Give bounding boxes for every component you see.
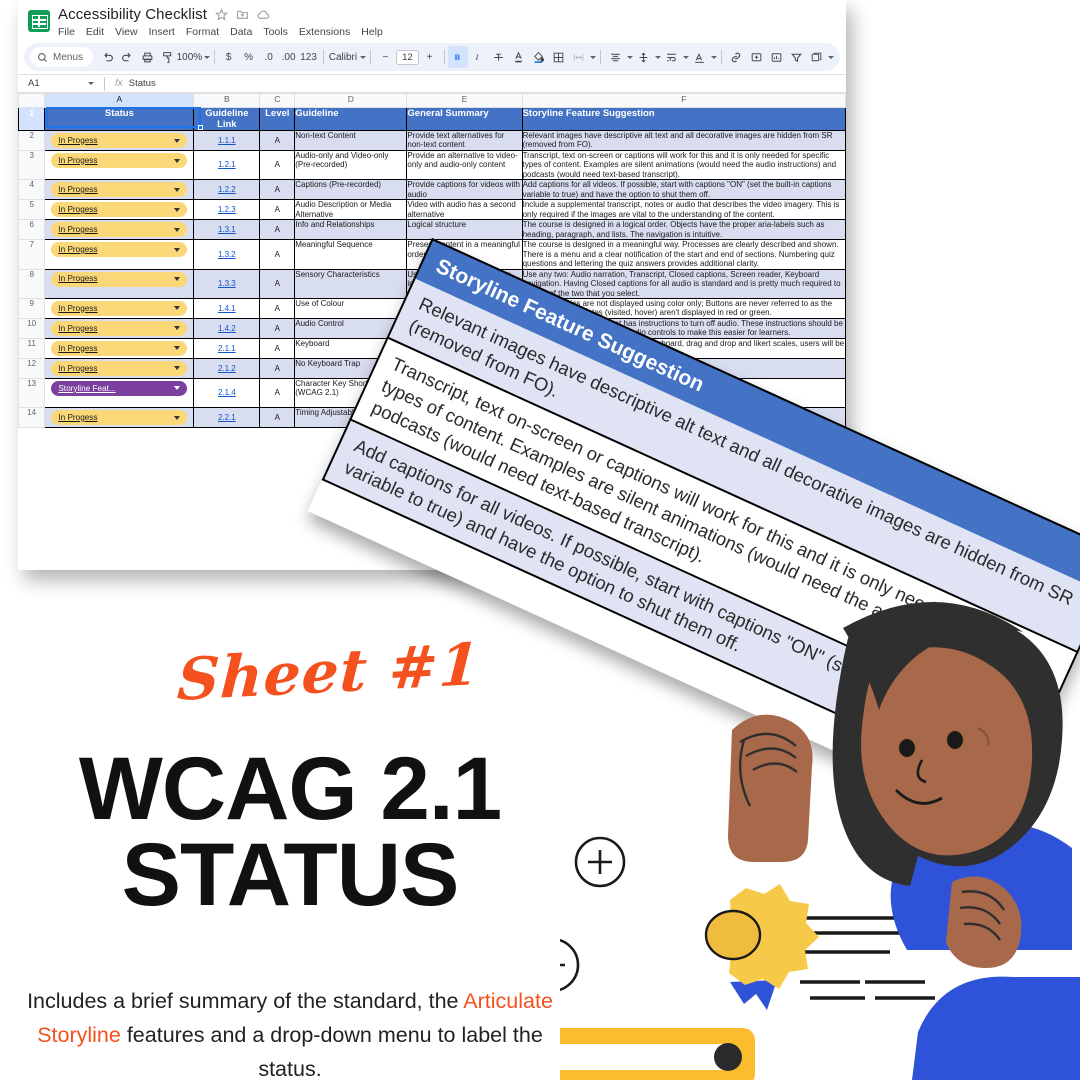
document-title[interactable]: Accessibility Checklist xyxy=(58,6,207,23)
guideline-link-cell[interactable]: 1.4.1 xyxy=(194,298,260,318)
divider xyxy=(721,50,722,64)
status-badge[interactable]: In Progess xyxy=(51,301,187,316)
person-eye-left xyxy=(899,739,915,757)
chevron-down-icon[interactable] xyxy=(174,306,180,310)
font-chevron-down-icon[interactable] xyxy=(360,56,366,59)
formula-input[interactable]: Status xyxy=(129,78,156,89)
increase-decimal-icon[interactable]: .00 xyxy=(279,46,299,68)
guideline-link-cell[interactable]: 2.1.2 xyxy=(194,358,260,378)
level-cell: A xyxy=(260,318,295,338)
move-to-folder-icon[interactable] xyxy=(236,8,249,21)
chevron-down-icon[interactable] xyxy=(174,326,180,330)
print-icon[interactable] xyxy=(137,46,157,68)
strikethrough-icon[interactable] xyxy=(488,46,508,68)
status-cell[interactable]: In Progess xyxy=(45,358,194,378)
undo-icon[interactable] xyxy=(97,46,117,68)
redo-icon[interactable] xyxy=(117,46,137,68)
storyline-cell: Include a supplemental transcript, notes… xyxy=(522,200,845,220)
chevron-down-icon[interactable] xyxy=(174,228,180,232)
header-storyline-feature-suggestion: Storyline Feature Suggestion xyxy=(522,108,845,131)
level-cell: A xyxy=(260,378,295,407)
level-cell: A xyxy=(260,298,295,318)
guideline-link[interactable]: 1.2.1 xyxy=(218,160,236,169)
guideline-link-cell[interactable]: 1.3.3 xyxy=(194,269,260,298)
filter-icon[interactable] xyxy=(786,46,806,68)
row-header[interactable]: 7 xyxy=(19,240,45,269)
row-header[interactable]: 14 xyxy=(19,408,45,428)
zoom-chevron-down-icon[interactable] xyxy=(204,56,210,59)
functions-icon[interactable] xyxy=(806,46,826,68)
column-header-b[interactable]: B xyxy=(194,94,260,108)
text-color-icon[interactable] xyxy=(508,46,528,68)
formula-bar: A1 fx Status xyxy=(18,74,846,93)
storyline-cell: Use any two: Audio narration, Transcript… xyxy=(522,269,845,298)
status-badge[interactable]: In Progess xyxy=(51,222,187,237)
status-badge[interactable]: In Progess xyxy=(51,182,187,197)
guideline-link-cell[interactable]: 2.1.1 xyxy=(194,338,260,358)
level-cell: A xyxy=(260,269,295,298)
column-header-d[interactable]: D xyxy=(295,94,407,108)
storyline-cell: Add captions for all videos. If possible… xyxy=(522,180,845,200)
table-row[interactable]: 5In Progess1.2.3AAudio Description or Me… xyxy=(19,200,846,220)
menu-view[interactable]: View xyxy=(115,26,138,38)
status-cell[interactable]: In Progess xyxy=(45,318,194,338)
divider xyxy=(370,50,371,64)
row-header[interactable]: 4 xyxy=(19,180,45,200)
status-cell[interactable]: In Progess xyxy=(45,269,194,298)
level-cell: A xyxy=(260,180,295,200)
status-badge[interactable]: In Progess xyxy=(51,341,187,356)
row-header[interactable]: 9 xyxy=(19,298,45,318)
row-header[interactable]: 10 xyxy=(19,318,45,338)
guideline-cell: Captions (Pre-recorded) xyxy=(295,180,407,200)
status-cell[interactable]: In Progess xyxy=(45,240,194,269)
status-badge[interactable]: In Progess xyxy=(51,153,187,168)
guideline-cell: Non-text Content xyxy=(295,131,407,151)
corner-select-all[interactable] xyxy=(19,94,45,108)
title-line-1: WCAG 2.1 xyxy=(0,745,580,831)
toggle-track xyxy=(560,1044,740,1070)
column-header-f[interactable]: F xyxy=(522,94,845,108)
guideline-link[interactable]: 2.2.1 xyxy=(218,413,236,422)
summary-cell: Provide an alternative to video-only and… xyxy=(407,151,522,180)
storyline-cell: Transcript, text on-screen or captions w… xyxy=(522,151,845,180)
guideline-link[interactable]: 2.1.2 xyxy=(218,364,236,373)
merge-chevron-down-icon[interactable] xyxy=(590,56,596,59)
row-header-1[interactable]: 1 xyxy=(19,108,45,131)
person-eye-right xyxy=(947,731,963,749)
guideline-link[interactable]: 1.2.3 xyxy=(218,205,236,214)
woman-with-certificate-illustration xyxy=(560,600,1080,1080)
guideline-link-cell[interactable]: 1.2.1 xyxy=(194,151,260,180)
subtitle-part-2: features and a drop-down menu to label t… xyxy=(121,1023,543,1080)
menus-search-label: Menus xyxy=(53,52,83,63)
storyline-cell: The course is designed in a logical orde… xyxy=(522,220,845,240)
row-header[interactable]: 5 xyxy=(19,200,45,220)
page-title: WCAG 2.1 STATUS xyxy=(0,745,580,918)
column-header-c[interactable]: C xyxy=(260,94,295,108)
row-header[interactable]: 3 xyxy=(19,151,45,180)
page-subtitle: Includes a brief summary of the standard… xyxy=(10,985,570,1080)
chevron-down-icon[interactable] xyxy=(174,248,180,252)
guideline-link[interactable]: 1.3.3 xyxy=(218,279,236,288)
chevron-down-icon[interactable] xyxy=(174,159,180,163)
status-label: In Progess xyxy=(58,413,97,423)
functions-chevron-down-icon[interactable] xyxy=(828,56,834,59)
merge-cells-icon[interactable] xyxy=(568,46,588,68)
table-row[interactable]: 6In Progess1.3.1AInfo and RelationshipsL… xyxy=(19,220,846,240)
guideline-cell: Info and Relationships xyxy=(295,220,407,240)
award-ribbon-tail xyxy=(730,980,777,1010)
row-header[interactable]: 2 xyxy=(19,131,45,151)
guideline-cell: Sensory Characteristics xyxy=(295,269,407,298)
status-label: In Progess xyxy=(58,324,97,334)
person-hand-left xyxy=(728,715,813,862)
decrease-decimal-icon[interactable]: .0 xyxy=(259,46,279,68)
status-label: In Progess xyxy=(58,274,97,284)
divider xyxy=(444,50,445,64)
chevron-down-icon[interactable] xyxy=(174,139,180,143)
star-icon[interactable] xyxy=(215,8,228,21)
status-label: In Progess xyxy=(58,344,97,354)
guideline-link[interactable]: 1.4.1 xyxy=(218,304,236,313)
header-guideline: Guideline xyxy=(295,108,407,131)
guideline-link[interactable]: 1.1.1 xyxy=(218,136,236,145)
chevron-down-icon[interactable] xyxy=(174,208,180,212)
guideline-link[interactable]: 1.3.2 xyxy=(218,250,236,259)
table-row[interactable]: 4In Progess1.2.2ACaptions (Pre-recorded)… xyxy=(19,180,846,200)
storyline-cell: The course is designed in a meaningful w… xyxy=(522,240,845,269)
row-header[interactable]: 8 xyxy=(19,269,45,298)
currency-icon[interactable]: $ xyxy=(219,46,239,68)
plus-icon-glyph xyxy=(588,850,612,874)
menu-insert[interactable]: Insert xyxy=(149,26,175,38)
header-level: Level xyxy=(260,108,295,131)
paint-format-icon[interactable] xyxy=(157,46,177,68)
menu-extensions[interactable]: Extensions xyxy=(299,26,350,38)
cell-reference-input[interactable]: A1 xyxy=(28,78,80,89)
status-label: Storyline Feat... xyxy=(58,384,115,394)
row-header[interactable]: 11 xyxy=(19,338,45,358)
row-header[interactable]: 13 xyxy=(19,378,45,407)
row-header[interactable]: 12 xyxy=(19,358,45,378)
guideline-link[interactable]: 2.1.1 xyxy=(218,344,236,353)
chevron-down-icon[interactable] xyxy=(174,277,180,281)
divider xyxy=(600,50,601,64)
level-cell: A xyxy=(260,358,295,378)
status-cell[interactable]: In Progess xyxy=(45,151,194,180)
table-row[interactable]: 3In Progess1.2.1AAudio-only and Video-on… xyxy=(19,151,846,180)
level-cell: A xyxy=(260,220,295,240)
guideline-cell: Audio-only and Video-only (Pre-recorded) xyxy=(295,151,407,180)
status-badge[interactable]: In Progess xyxy=(51,410,187,425)
guideline-link[interactable]: 1.3.1 xyxy=(218,225,236,234)
level-cell: A xyxy=(260,240,295,269)
status-label: In Progess xyxy=(58,225,97,235)
fx-icon: fx xyxy=(115,78,123,89)
status-cell[interactable]: In Progess xyxy=(45,200,194,220)
status-badge[interactable]: In Progess xyxy=(51,361,187,376)
status-cell[interactable]: In Progess xyxy=(45,131,194,151)
award-medal-center xyxy=(706,911,760,959)
status-label: In Progess xyxy=(58,136,97,146)
status-label: In Progess xyxy=(58,156,97,166)
guideline-cell: Use of Colour xyxy=(295,298,407,318)
guideline-link[interactable]: 2.1.4 xyxy=(218,388,236,397)
menu-edit[interactable]: Edit xyxy=(86,26,104,38)
chevron-down-icon[interactable] xyxy=(174,188,180,192)
guideline-link-cell[interactable]: 1.2.2 xyxy=(194,180,260,200)
search-icon xyxy=(37,52,48,63)
status-cell[interactable]: Storyline Feat... xyxy=(45,378,194,407)
plus-icon-glyph xyxy=(560,952,565,978)
status-label: In Progess xyxy=(58,364,97,374)
menu-format[interactable]: Format xyxy=(186,26,219,38)
status-cell[interactable]: In Progess xyxy=(45,338,194,358)
rotation-chevron-down-icon[interactable] xyxy=(711,56,717,59)
menus-search-button[interactable]: Menus xyxy=(30,47,93,67)
formatting-toolbar: Menus 100% $ % .0 .00 123 Calibri − 12 +… xyxy=(24,43,840,71)
comment-icon[interactable] xyxy=(746,46,766,68)
column-header-e[interactable]: E xyxy=(407,94,522,108)
status-label: In Progess xyxy=(58,205,97,215)
font-size-input[interactable]: 12 xyxy=(396,50,419,65)
increase-font-size-button[interactable]: + xyxy=(420,46,440,68)
cloud-saved-icon[interactable] xyxy=(257,8,270,21)
sheets-logo-icon xyxy=(28,10,50,32)
status-badge[interactable]: In Progess xyxy=(51,272,187,287)
status-cell[interactable]: In Progess xyxy=(45,408,194,428)
status-label: In Progess xyxy=(58,245,97,255)
divider xyxy=(323,50,324,64)
status-badge[interactable]: In Progess xyxy=(51,133,187,148)
menu-tools[interactable]: Tools xyxy=(263,26,288,38)
horizontal-align-icon[interactable] xyxy=(605,46,625,68)
status-badge[interactable]: In Progess xyxy=(51,202,187,217)
namebox-chevron-down-icon[interactable] xyxy=(88,82,94,85)
table-row[interactable]: 2In Progess1.1.1ANon-text ContentProvide… xyxy=(19,131,846,151)
guideline-link-cell[interactable]: 1.1.1 xyxy=(194,131,260,151)
text-wrap-icon[interactable] xyxy=(661,46,681,68)
percent-icon[interactable]: % xyxy=(239,46,259,68)
guideline-cell: Audio Description or Media Alternative xyxy=(295,200,407,220)
italic-icon[interactable]: I xyxy=(468,46,488,68)
title-line-2: STATUS xyxy=(0,831,580,917)
menu-data[interactable]: Data xyxy=(230,26,252,38)
fill-color-icon[interactable] xyxy=(528,46,548,68)
summary-cell: Provide captions for videos with audio xyxy=(407,180,522,200)
chevron-down-icon[interactable] xyxy=(174,416,180,420)
link-icon[interactable] xyxy=(726,46,746,68)
status-cell[interactable]: In Progess xyxy=(45,220,194,240)
guideline-link-cell[interactable]: 1.3.1 xyxy=(194,220,260,240)
more-formats-icon[interactable]: 123 xyxy=(299,46,319,68)
status-badge[interactable]: In Progess xyxy=(51,321,187,336)
zoom-value[interactable]: 100% xyxy=(177,46,202,68)
guideline-link-cell[interactable]: 2.1.4 xyxy=(194,378,260,407)
borders-icon[interactable] xyxy=(548,46,568,68)
vertical-align-icon[interactable] xyxy=(633,46,653,68)
guideline-link-cell[interactable]: 1.3.2 xyxy=(194,240,260,269)
toggle-knob[interactable] xyxy=(714,1043,742,1071)
chevron-down-icon[interactable] xyxy=(174,386,180,390)
guideline-link-cell[interactable]: 1.2.3 xyxy=(194,200,260,220)
table-header-row: 1 Status Guideline Link Level Guideline … xyxy=(19,108,846,131)
header-status: Status xyxy=(45,108,194,131)
summary-cell: Video with audio has a second alternativ… xyxy=(407,200,522,220)
font-name-select[interactable]: Calibri xyxy=(327,46,358,68)
status-badge[interactable]: In Progess xyxy=(51,242,187,257)
guideline-cell: Meaningful Sequence xyxy=(295,240,407,269)
fill-handle[interactable] xyxy=(198,125,203,130)
menu-file[interactable]: File xyxy=(58,26,75,38)
divider xyxy=(214,50,215,64)
menu-help[interactable]: Help xyxy=(361,26,383,38)
menu-bar: File Edit View Insert Format Data Tools … xyxy=(58,26,838,38)
guideline-link[interactable]: 1.2.2 xyxy=(218,185,236,194)
column-header-row: A B C D E F xyxy=(19,94,846,108)
storyline-cell: Relevant images have descriptive alt tex… xyxy=(522,131,845,151)
level-cell: A xyxy=(260,338,295,358)
status-label: In Progess xyxy=(58,185,97,195)
summary-cell: Provide text alternatives for non-text c… xyxy=(407,131,522,151)
header-general-summary: General Summary xyxy=(407,108,522,131)
summary-cell: Logical structure xyxy=(407,220,522,240)
level-cell: A xyxy=(260,200,295,220)
decrease-font-size-button[interactable]: − xyxy=(375,46,395,68)
chart-icon[interactable] xyxy=(766,46,786,68)
row-header[interactable]: 6 xyxy=(19,220,45,240)
column-header-a[interactable]: A xyxy=(45,94,194,108)
eyebrow-label: Sheet #1 xyxy=(176,630,483,714)
guideline-link[interactable]: 1.4.2 xyxy=(218,324,236,333)
svg-text:B: B xyxy=(455,52,461,62)
status-cell[interactable]: In Progess xyxy=(45,180,194,200)
status-cell[interactable]: In Progess xyxy=(45,298,194,318)
header-guideline-link: Guideline Link xyxy=(194,108,260,131)
poster-canvas: Accessibility Checklist File Edit View I… xyxy=(0,0,1080,1080)
level-cell: A xyxy=(260,131,295,151)
chevron-down-icon[interactable] xyxy=(174,366,180,370)
guideline-link-cell[interactable]: 2.2.1 xyxy=(194,408,260,428)
guideline-link-cell[interactable]: 1.4.2 xyxy=(194,318,260,338)
svg-text:I: I xyxy=(475,52,480,62)
level-cell: A xyxy=(260,408,295,428)
divider xyxy=(104,77,105,91)
chevron-down-icon[interactable] xyxy=(174,346,180,350)
status-badge[interactable]: Storyline Feat... xyxy=(51,381,187,396)
sheets-titlebar: Accessibility Checklist File Edit View I… xyxy=(18,0,846,40)
subtitle-part-1: Includes a brief summary of the standard… xyxy=(27,989,463,1013)
level-cell: A xyxy=(260,151,295,180)
status-label: In Progess xyxy=(58,304,97,314)
text-rotation-icon[interactable] xyxy=(689,46,709,68)
bold-icon[interactable]: B xyxy=(448,46,468,68)
